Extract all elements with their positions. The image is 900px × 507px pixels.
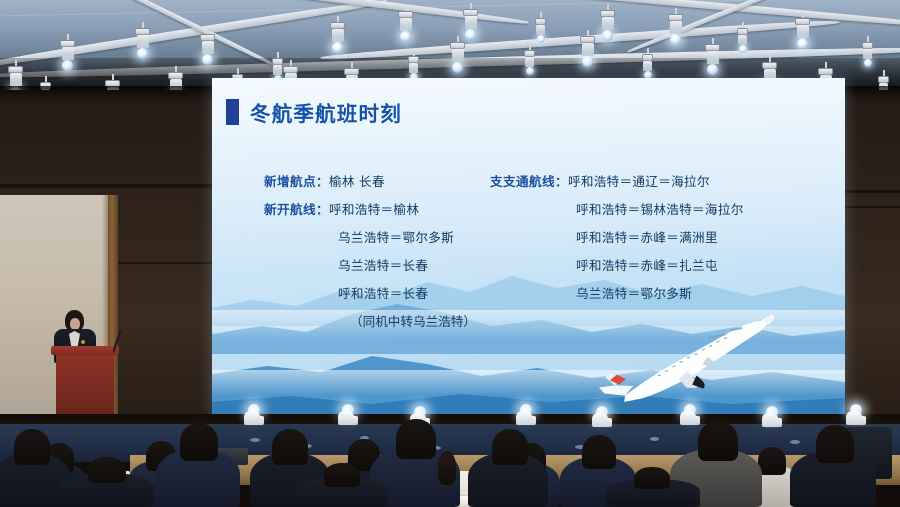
slide-row: 呼和浩特＝锡林浩特＝海拉尔: [490, 199, 744, 227]
wall-seam: [118, 262, 212, 264]
slide-row: 乌兰浩特＝长春: [264, 255, 476, 283]
row-value: 呼和浩特＝赤峰＝满洲里: [576, 227, 718, 246]
stage-spotlight: [705, 38, 720, 75]
stage-spotlight: [580, 30, 595, 67]
wall-seam: [845, 206, 900, 208]
conference-hall-screenshot: 冬航季航班时刻: [0, 0, 900, 507]
audience-head: [582, 435, 616, 469]
projection-screen: 冬航季航班时刻: [212, 78, 845, 418]
row-value: 榆林 长春: [329, 171, 385, 190]
seated-audience: [0, 418, 900, 507]
row-label: 新开航线：: [264, 199, 329, 218]
row-value: 呼和浩特＝锡林浩特＝海拉尔: [576, 199, 744, 218]
audience-head: [492, 429, 528, 465]
audience-head: [698, 421, 738, 461]
row-note: （同机中转乌兰浩特）: [350, 311, 476, 330]
row-value: 乌兰浩特＝鄂尔多斯: [576, 283, 692, 302]
stage-spotlight: [642, 48, 653, 79]
slide-row: 支支通航线： 呼和浩特＝通辽＝海拉尔: [490, 171, 744, 199]
left-column: 新增航点： 榆林 长春 新开航线： 呼和浩特＝榆林 乌兰浩特＝鄂尔多斯 乌兰浩特…: [264, 171, 476, 339]
slide-row: 呼和浩特＝赤峰＝扎兰屯: [490, 255, 744, 283]
audience-head: [88, 457, 126, 483]
row-label: 支支通航线：: [490, 171, 568, 190]
stage-spotlight: [600, 4, 615, 41]
audience-head: [180, 423, 218, 461]
audience-head: [758, 447, 786, 475]
stage-spotlight: [668, 8, 683, 45]
audience-head: [272, 429, 308, 465]
stage-spotlight: [795, 12, 810, 49]
slide-row: 乌兰浩特＝鄂尔多斯: [264, 227, 476, 255]
slide-row: 新增航点： 榆林 长春: [264, 171, 476, 199]
slide-row: 乌兰浩特＝鄂尔多斯: [490, 283, 744, 311]
slide-row: （同机中转乌兰浩特）: [264, 311, 476, 339]
audience-head: [816, 425, 854, 463]
row-value: 呼和浩特＝榆林: [329, 199, 419, 218]
slide-title-row: 冬航季航班时刻: [226, 97, 402, 127]
stage-spotlight: [398, 5, 413, 42]
podium-top: [51, 346, 119, 355]
stage-spotlight: [200, 28, 215, 65]
row-value: 呼和浩特＝赤峰＝扎兰屯: [576, 255, 718, 274]
slide-title: 冬航季航班时刻: [250, 97, 402, 127]
row-value: 乌兰浩特＝鄂尔多斯: [338, 227, 454, 246]
stage-spotlight: [330, 16, 345, 53]
stage-spotlight: [524, 44, 535, 75]
slide-row: 新开航线： 呼和浩特＝榆林: [264, 199, 476, 227]
wall-seam: [0, 184, 212, 188]
audience-head: [14, 429, 50, 465]
row-label: 新增航点：: [264, 171, 329, 190]
stage-spotlight: [60, 34, 75, 71]
stage-spotlight: [862, 36, 873, 67]
row-value: 乌兰浩特＝长春: [338, 255, 428, 274]
stage-spotlight: [737, 22, 748, 53]
stage-spotlight: [535, 12, 546, 43]
slide-row: 呼和浩特＝长春: [264, 283, 476, 311]
wall-seam: [845, 190, 900, 193]
audience-head: [634, 467, 670, 489]
stage-spotlight: [408, 50, 419, 81]
row-value: 呼和浩特＝通辽＝海拉尔: [568, 171, 710, 190]
speaker-badge: [81, 340, 85, 344]
stage-spotlight: [135, 22, 150, 59]
audience-head: [324, 463, 360, 487]
slide-row: 呼和浩特＝赤峰＝满洲里: [490, 227, 744, 255]
row-value: 呼和浩特＝长春: [338, 283, 428, 302]
audience-head: [396, 419, 436, 459]
stage-spotlight: [450, 36, 465, 73]
title-accent-bar: [226, 99, 239, 125]
right-column: 支支通航线： 呼和浩特＝通辽＝海拉尔 呼和浩特＝锡林浩特＝海拉尔 呼和浩特＝赤峰…: [490, 171, 744, 311]
stage-spotlight: [463, 3, 478, 40]
audience-hair: [438, 451, 456, 485]
